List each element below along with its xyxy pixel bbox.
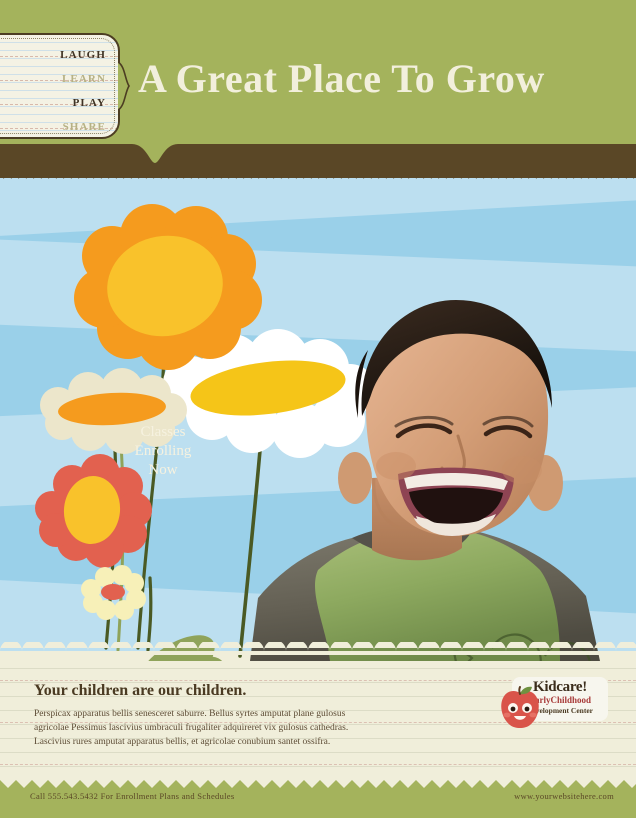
- tagline-list: LAUGH LEARN PLAY SHARE: [0, 35, 118, 139]
- hero-illustration-panel: Classes Enrolling Now: [0, 178, 636, 661]
- boy-cheek-right: [502, 456, 542, 484]
- content-dash-line: [0, 764, 636, 765]
- notebook-card: LAUGH LEARN PLAY SHARE: [0, 33, 120, 139]
- footer-zigzag-edge: [0, 780, 636, 788]
- content-panel: Your children are our children. Perspica…: [0, 655, 636, 780]
- laughing-boy-photo: [0, 178, 636, 661]
- badge-line-3: Now: [111, 461, 215, 480]
- tagline-item-share: SHARE: [0, 115, 106, 139]
- poster-canvas: LAUGH LEARN PLAY SHARE: [0, 0, 636, 818]
- enrollment-badge-text: Classes Enrolling Now: [111, 423, 215, 480]
- brown-band-scallop-edge: [0, 171, 636, 180]
- tagline-item-laugh: LAUGH: [0, 43, 106, 67]
- body-paragraph-1: Perspicax apparatus bellis senesceret sa…: [34, 707, 379, 721]
- content-body-copy: Perspicax apparatus bellis senesceret sa…: [34, 707, 379, 749]
- page-title: A Great Place To Grow: [138, 55, 545, 103]
- badge-line-2: Enrolling: [111, 442, 215, 461]
- apple-mascot-icon: [498, 685, 542, 729]
- boy-ear-left: [338, 452, 372, 504]
- footer-phone-text: Call 555.543.5432 For Enrollment Plans a…: [30, 791, 234, 802]
- footer-website-text[interactable]: www.yourwebsitehere.com: [514, 791, 614, 802]
- kidcare-logo[interactable]: Kidcare! EarlyChildhood Development Cent…: [500, 677, 608, 725]
- card-brace-icon: [118, 62, 130, 110]
- boy-cheek-left: [376, 452, 416, 480]
- tagline-item-learn: LEARN: [0, 67, 106, 91]
- content-headline: Your children are our children.: [34, 682, 246, 700]
- photo-bottom-scallop: [0, 642, 636, 655]
- body-paragraph-3: Lascivius rures amputat apparatus bellis…: [34, 735, 379, 749]
- badge-line-1: Classes: [111, 423, 215, 442]
- brown-band-notch: [132, 144, 178, 163]
- body-paragraph-2: agricolae Pessimus lascivius umbraculi f…: [34, 721, 379, 735]
- tagline-item-play: PLAY: [0, 91, 106, 115]
